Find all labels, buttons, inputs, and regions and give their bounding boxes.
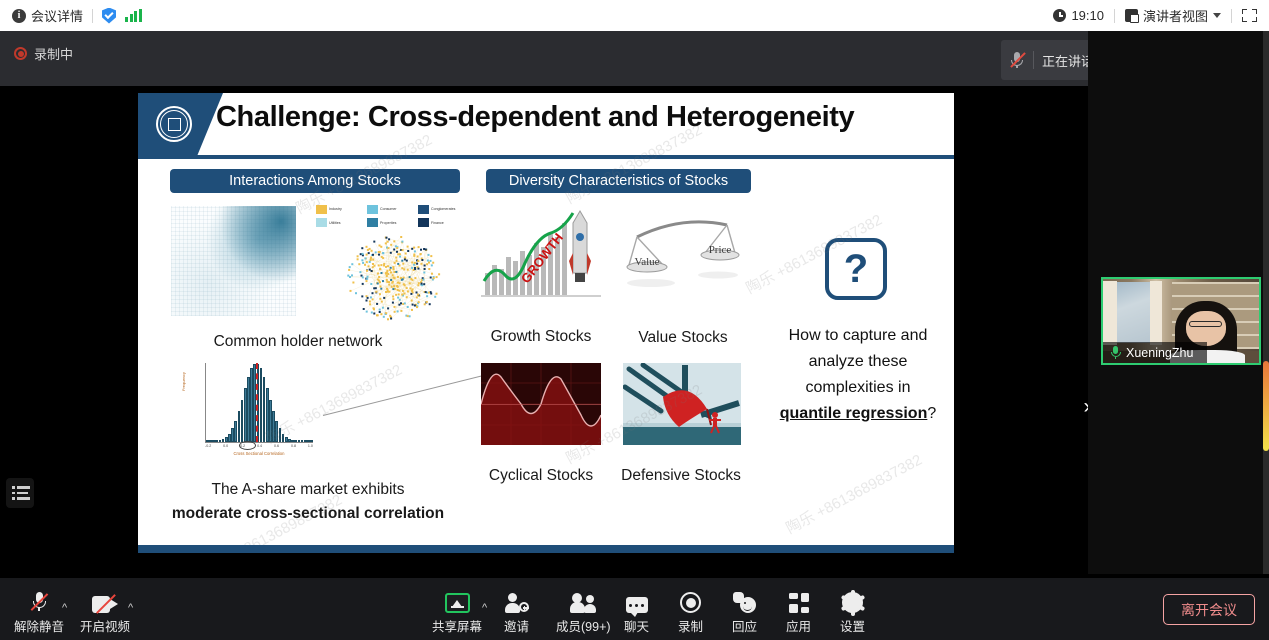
info-icon: i xyxy=(12,9,26,23)
histogram-bars xyxy=(206,363,313,442)
university-seal-icon xyxy=(156,106,192,142)
network-legend: Industry Consumer Conglomerates Utilitie… xyxy=(316,203,466,229)
slide-header: Challenge: Cross-dependent and Heterogen… xyxy=(138,93,954,155)
mute-label: 解除静音 xyxy=(14,616,64,635)
glasses-icon xyxy=(1189,321,1222,327)
clock-icon xyxy=(1053,9,1066,22)
recording-label: 录制中 xyxy=(34,44,73,63)
legend-label: Utilities xyxy=(329,221,341,225)
invite-label: 邀请 xyxy=(504,616,529,635)
share-options-chevron-icon[interactable]: ^ xyxy=(482,602,487,614)
video-label: 开启视频 xyxy=(80,616,130,635)
meeting-details-label: 会议详情 xyxy=(31,6,83,25)
common-holder-network-graph: Industry Consumer Conglomerates Utilitie… xyxy=(316,203,471,328)
slide-header-rule xyxy=(138,155,954,159)
meeting-toolbar: 解除静音 ^ 开启视频 ^ 共享屏幕 ^ 邀请 成员(9 xyxy=(0,578,1269,640)
share-label: 共享屏幕 xyxy=(432,616,482,635)
xtick: 0.6 xyxy=(274,444,279,448)
view-mode-label: 演讲者视图 xyxy=(1143,6,1208,25)
question-line-1: How to capture and xyxy=(768,323,948,349)
scale-label-value: Value xyxy=(634,256,659,268)
correlation-heatmap xyxy=(171,206,296,316)
record-label: 录制 xyxy=(678,616,703,635)
recording-indicator: 录制中 xyxy=(14,44,73,63)
question-emphasis: quantile regression xyxy=(780,405,928,422)
legend-item: Finance xyxy=(418,217,466,230)
mic-on-icon xyxy=(1110,346,1121,359)
recording-bar xyxy=(0,31,1088,86)
growth-stocks-image: GROWTH xyxy=(481,203,601,303)
reaction-smiley-icon xyxy=(733,589,756,613)
correlation-histogram: Frequency -0.2 0.0 0.2 0.4 0.6 0.8 1.0 C… xyxy=(183,361,318,461)
legend-item: Utilities xyxy=(316,217,364,230)
section-pill-diversity: Diversity Characteristics of Stocks xyxy=(486,169,751,193)
value-stocks-image: Value Price xyxy=(623,203,741,303)
question-line-2: analyze these xyxy=(768,349,948,375)
shared-screen-stage: Challenge: Cross-dependent and Heterogen… xyxy=(0,86,1088,574)
shield-check-icon[interactable] xyxy=(102,8,116,24)
scrollbar-thumb[interactable] xyxy=(1263,361,1269,451)
participant-video-tile[interactable]: XueningZhu xyxy=(1101,277,1261,365)
video-tile-nameplate: XueningZhu xyxy=(1103,342,1207,363)
cyclical-stocks-caption: Cyclical Stocks xyxy=(476,467,606,485)
legend-item: Consumer xyxy=(367,203,415,216)
scale-label-price: Price xyxy=(709,244,732,256)
question-text-block: How to capture and analyze these complex… xyxy=(768,323,948,427)
legend-item: Industry xyxy=(316,203,364,216)
record-button[interactable]: 录制 xyxy=(678,589,703,635)
mic-options-chevron-icon[interactable]: ^ xyxy=(62,602,67,614)
participant-name: XueningZhu xyxy=(1126,346,1193,360)
growth-stocks-caption: Growth Stocks xyxy=(476,328,606,346)
xtick: 1.0 xyxy=(308,444,313,448)
participants-label: 成员(99+) xyxy=(556,616,611,635)
divider xyxy=(1114,9,1115,23)
conclusion-line-2: moderate cross-sectional correlation xyxy=(148,505,468,523)
mic-muted-icon xyxy=(30,589,48,613)
curtain-left xyxy=(1103,281,1117,345)
meeting-timer: 19:10 xyxy=(1053,8,1104,23)
question-line-3: complexities in xyxy=(768,375,948,401)
value-stocks-caption: Value Stocks xyxy=(618,329,748,347)
xtick: 0.0 xyxy=(223,444,228,448)
top-bar: i 会议详情 19:10 演讲者视图 xyxy=(0,0,1269,31)
defensive-stocks-image xyxy=(623,363,741,445)
histogram-xticks: -0.2 0.0 0.2 0.4 0.6 0.8 1.0 xyxy=(205,444,313,448)
divider xyxy=(1231,9,1232,23)
network-node-cloud xyxy=(324,229,464,327)
record-circle-icon xyxy=(680,589,701,613)
legend-label: Industry xyxy=(329,207,342,211)
legend-label: Consumer xyxy=(380,207,397,211)
apps-grid-icon xyxy=(789,589,809,613)
histogram-plot xyxy=(205,363,313,443)
meeting-window: i 会议详情 19:10 演讲者视图 录制中 xyxy=(0,0,1269,640)
histogram-highlight-ellipse xyxy=(239,441,256,450)
timer-value: 19:10 xyxy=(1071,8,1104,23)
slide-header-accent xyxy=(138,93,223,155)
invite-person-icon xyxy=(505,589,529,613)
participants-button[interactable]: 成员(99+) xyxy=(556,589,611,635)
speaker-view-icon xyxy=(1125,9,1138,22)
settings-button[interactable]: 设置 xyxy=(840,589,865,635)
share-screen-button[interactable]: 共享屏幕 xyxy=(432,589,482,635)
chevron-down-icon xyxy=(1213,13,1221,18)
section-pill-interactions: Interactions Among Stocks xyxy=(170,169,460,193)
gear-icon xyxy=(842,589,863,613)
apps-label: 应用 xyxy=(786,616,811,635)
record-dot-icon xyxy=(14,47,27,60)
divider xyxy=(92,9,93,23)
settings-label: 设置 xyxy=(840,616,865,635)
apps-button[interactable]: 应用 xyxy=(786,589,811,635)
question-mark-box-icon: ? xyxy=(825,238,887,300)
section-pill-row: Interactions Among Stocks Diversity Char… xyxy=(138,169,954,195)
conclusion-line-1: The A-share market exhibits xyxy=(158,481,458,499)
participant-face xyxy=(1186,311,1227,346)
divider xyxy=(1033,51,1034,69)
histogram-xlabel: Cross Sectional Correlation xyxy=(205,451,313,456)
legend-label: Conglomerates xyxy=(431,207,455,211)
question-mark-glyph: ? xyxy=(844,249,868,289)
mute-button[interactable]: 解除静音 xyxy=(14,589,64,635)
histogram-mean-line xyxy=(256,363,258,442)
curtain-right xyxy=(1150,281,1162,345)
signal-bars-icon[interactable] xyxy=(125,9,142,22)
reactions-button[interactable]: 回应 xyxy=(732,589,757,635)
cyclical-stocks-image xyxy=(481,363,601,445)
xtick: 0.4 xyxy=(257,444,262,448)
leave-meeting-button[interactable]: 离开会议 xyxy=(1163,594,1255,625)
chat-button[interactable]: 聊天 xyxy=(624,589,649,635)
defensive-stocks-caption: Defensive Stocks xyxy=(616,467,746,485)
legend-item: Conglomerates xyxy=(418,203,466,216)
slide-footer-bar xyxy=(138,545,954,553)
camera-options-chevron-icon[interactable]: ^ xyxy=(128,602,133,614)
fullscreen-icon[interactable] xyxy=(1242,9,1257,22)
question-tail: ? xyxy=(927,405,936,422)
mic-muted-icon xyxy=(1009,51,1025,69)
network-caption: Common holder network xyxy=(158,333,438,351)
legend-label: Finance xyxy=(431,221,444,225)
participants-icon xyxy=(570,589,596,613)
legend-item: Properties xyxy=(367,217,415,230)
presentation-slide: Challenge: Cross-dependent and Heterogen… xyxy=(138,93,954,553)
xtick: -0.2 xyxy=(205,444,211,448)
legend-label: Properties xyxy=(380,221,396,225)
camera-off-icon xyxy=(92,589,118,613)
watermark: 陶乐 +8613689837382 xyxy=(782,449,926,539)
participant-list-icon[interactable] xyxy=(6,478,34,508)
xtick: 0.8 xyxy=(291,444,296,448)
histogram-ylabel: Frequency xyxy=(181,372,186,391)
invite-button[interactable]: 邀请 xyxy=(504,589,529,635)
reactions-label: 回应 xyxy=(732,616,757,635)
share-screen-icon xyxy=(445,589,470,613)
callout-connector xyxy=(323,373,490,416)
slide-title: Challenge: Cross-dependent and Heterogen… xyxy=(216,101,946,134)
video-strip-scrollbar[interactable] xyxy=(1263,31,1269,574)
meeting-details-button[interactable]: i 会议详情 xyxy=(12,6,83,25)
view-mode-selector[interactable]: 演讲者视图 xyxy=(1125,6,1221,25)
start-video-button[interactable]: 开启视频 xyxy=(80,589,130,635)
chat-label: 聊天 xyxy=(624,616,649,635)
chat-bubble-icon xyxy=(626,589,648,613)
